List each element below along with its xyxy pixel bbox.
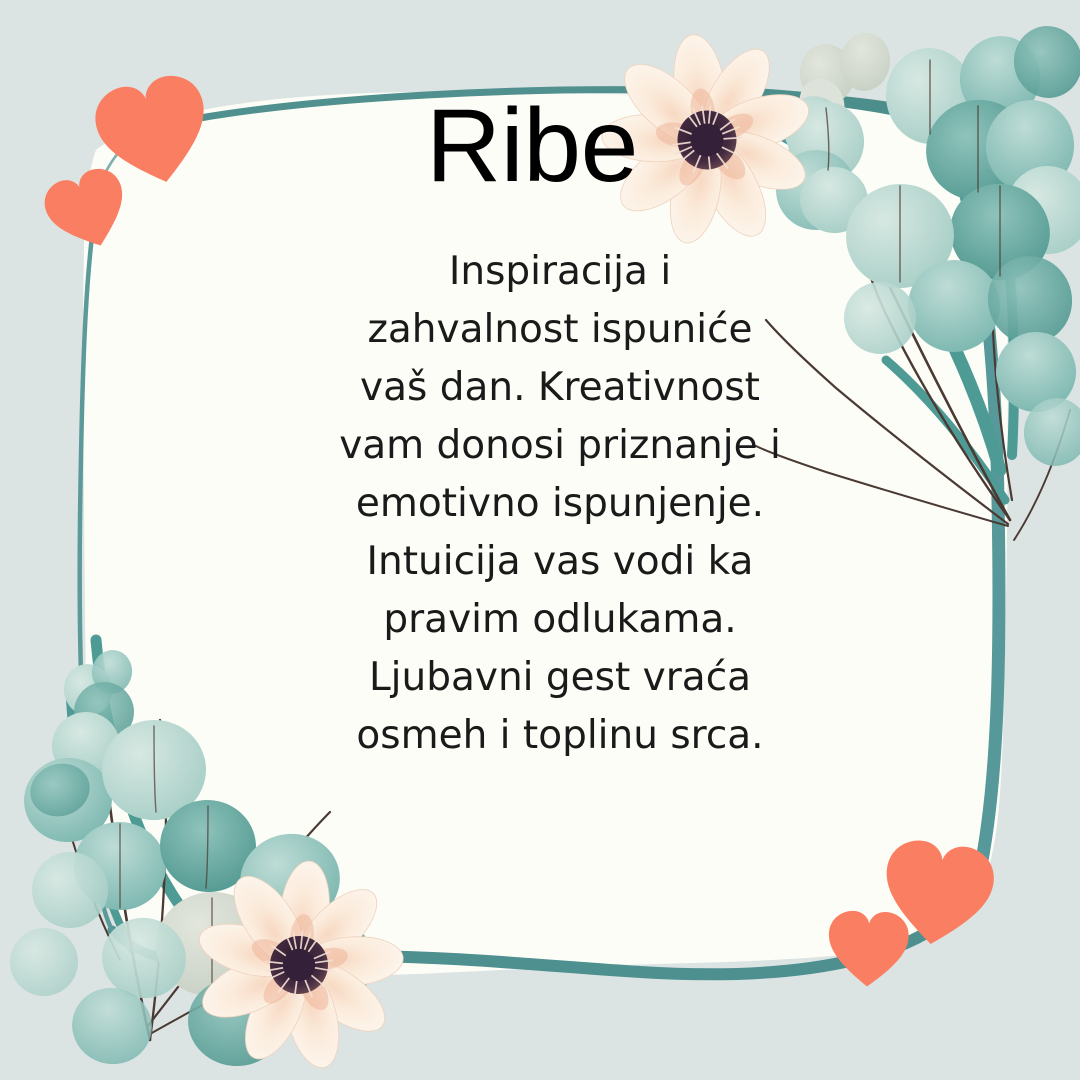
decorative-artwork [0, 0, 1080, 1080]
greeting-card-poster: Ribe Inspiracija i zahvalnost ispuniće v… [0, 0, 1080, 1080]
